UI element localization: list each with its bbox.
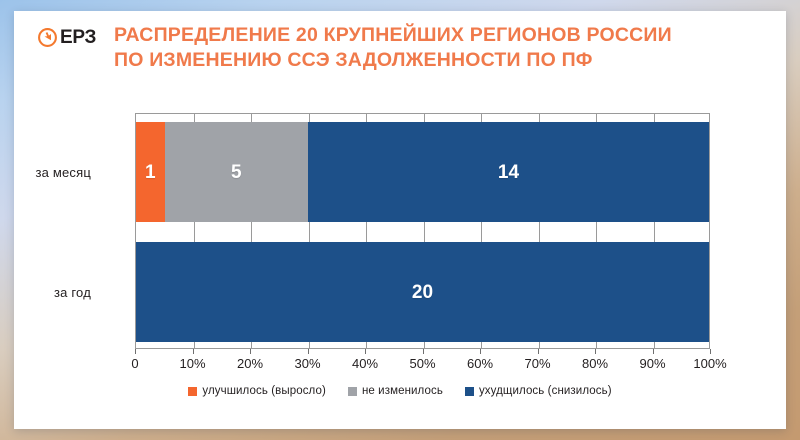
- bar-value-label: 1: [145, 163, 156, 182]
- legend-swatch-icon: [188, 387, 197, 396]
- legend-item[interactable]: улучшилось (выросло): [188, 385, 326, 397]
- axis-tick-mark: [135, 349, 136, 354]
- erz-logo-text: ЕРЗ: [60, 28, 96, 47]
- legend-label: не изменилось: [362, 385, 443, 397]
- axis-tick-label: 90%: [639, 356, 665, 371]
- axis-tick-label: 80%: [582, 356, 608, 371]
- erz-logo: ЕРЗ: [37, 27, 96, 48]
- axis-tick-label: 40%: [352, 356, 378, 371]
- chart-area: за месяц за год 1 5 14 20 010%2: [14, 97, 786, 429]
- bar-row-year: 20: [136, 242, 709, 342]
- axis-tick-label: 70%: [524, 356, 550, 371]
- axis-tick-mark: [250, 349, 251, 354]
- axis-tick-label: 60%: [467, 356, 493, 371]
- slide-header: ЕРЗ РАСПРЕДЕЛЕНИЕ 20 КРУПНЕЙШИХ РЕГИОНОВ…: [14, 11, 786, 91]
- chart-legend: улучшилось (выросло)не изменилосьухудщил…: [14, 385, 786, 397]
- axis-tick-mark: [193, 349, 194, 354]
- bar-segment-worsened-year[interactable]: 20: [136, 242, 709, 342]
- axis-tick-mark: [308, 349, 309, 354]
- axis-tick-label: 10%: [179, 356, 205, 371]
- bar-value-label: 14: [498, 163, 519, 182]
- legend-item[interactable]: не изменилось: [348, 385, 443, 397]
- slide-title: РАСПРЕДЕЛЕНИЕ 20 КРУПНЕЙШИХ РЕГИОНОВ РОС…: [114, 23, 754, 73]
- legend-swatch-icon: [465, 387, 474, 396]
- bar-row-month: 1 5 14: [136, 122, 709, 222]
- axis-tick-mark: [423, 349, 424, 354]
- axis-tick-mark: [538, 349, 539, 354]
- legend-label: улучшилось (выросло): [202, 385, 326, 397]
- axis-tick-label: 20%: [237, 356, 263, 371]
- legend-item[interactable]: ухудщилось (снизилось): [465, 385, 612, 397]
- bar-value-label: 20: [412, 283, 433, 302]
- category-label-year: за год: [0, 285, 91, 300]
- axis-tick-mark: [653, 349, 654, 354]
- category-label-month: за месяц: [0, 165, 91, 180]
- slide-card: ЕРЗ РАСПРЕДЕЛЕНИЕ 20 КРУПНЕЙШИХ РЕГИОНОВ…: [14, 11, 786, 429]
- bar-value-label: 5: [231, 163, 242, 182]
- title-line-1: РАСПРЕДЕЛЕНИЕ 20 КРУПНЕЙШИХ РЕГИОНОВ РОС…: [114, 23, 754, 48]
- axis-tick-label: 0: [131, 356, 138, 371]
- legend-label: ухудщилось (снизилось): [479, 385, 612, 397]
- plot-frame: 1 5 14 20: [135, 113, 710, 349]
- x-axis: 010%20%30%40%50%60%70%80%90%100%: [135, 349, 710, 377]
- bar-segment-unchanged-month[interactable]: 5: [165, 122, 308, 222]
- title-line-2: ПО ИЗМЕНЕНИЮ ССЭ ЗАДОЛЖЕННОСТИ ПО ПФ: [114, 48, 754, 73]
- axis-tick-mark: [365, 349, 366, 354]
- axis-tick-label: 50%: [409, 356, 435, 371]
- legend-swatch-icon: [348, 387, 357, 396]
- axis-tick-mark: [710, 349, 711, 354]
- axis-tick-label: 100%: [693, 356, 726, 371]
- axis-tick-label: 30%: [294, 356, 320, 371]
- axis-tick-mark: [595, 349, 596, 354]
- erz-circle-cursor-icon: [37, 27, 58, 48]
- axis-tick-mark: [480, 349, 481, 354]
- bar-segment-improved-month[interactable]: 1: [136, 122, 165, 222]
- bar-segment-worsened-month[interactable]: 14: [308, 122, 709, 222]
